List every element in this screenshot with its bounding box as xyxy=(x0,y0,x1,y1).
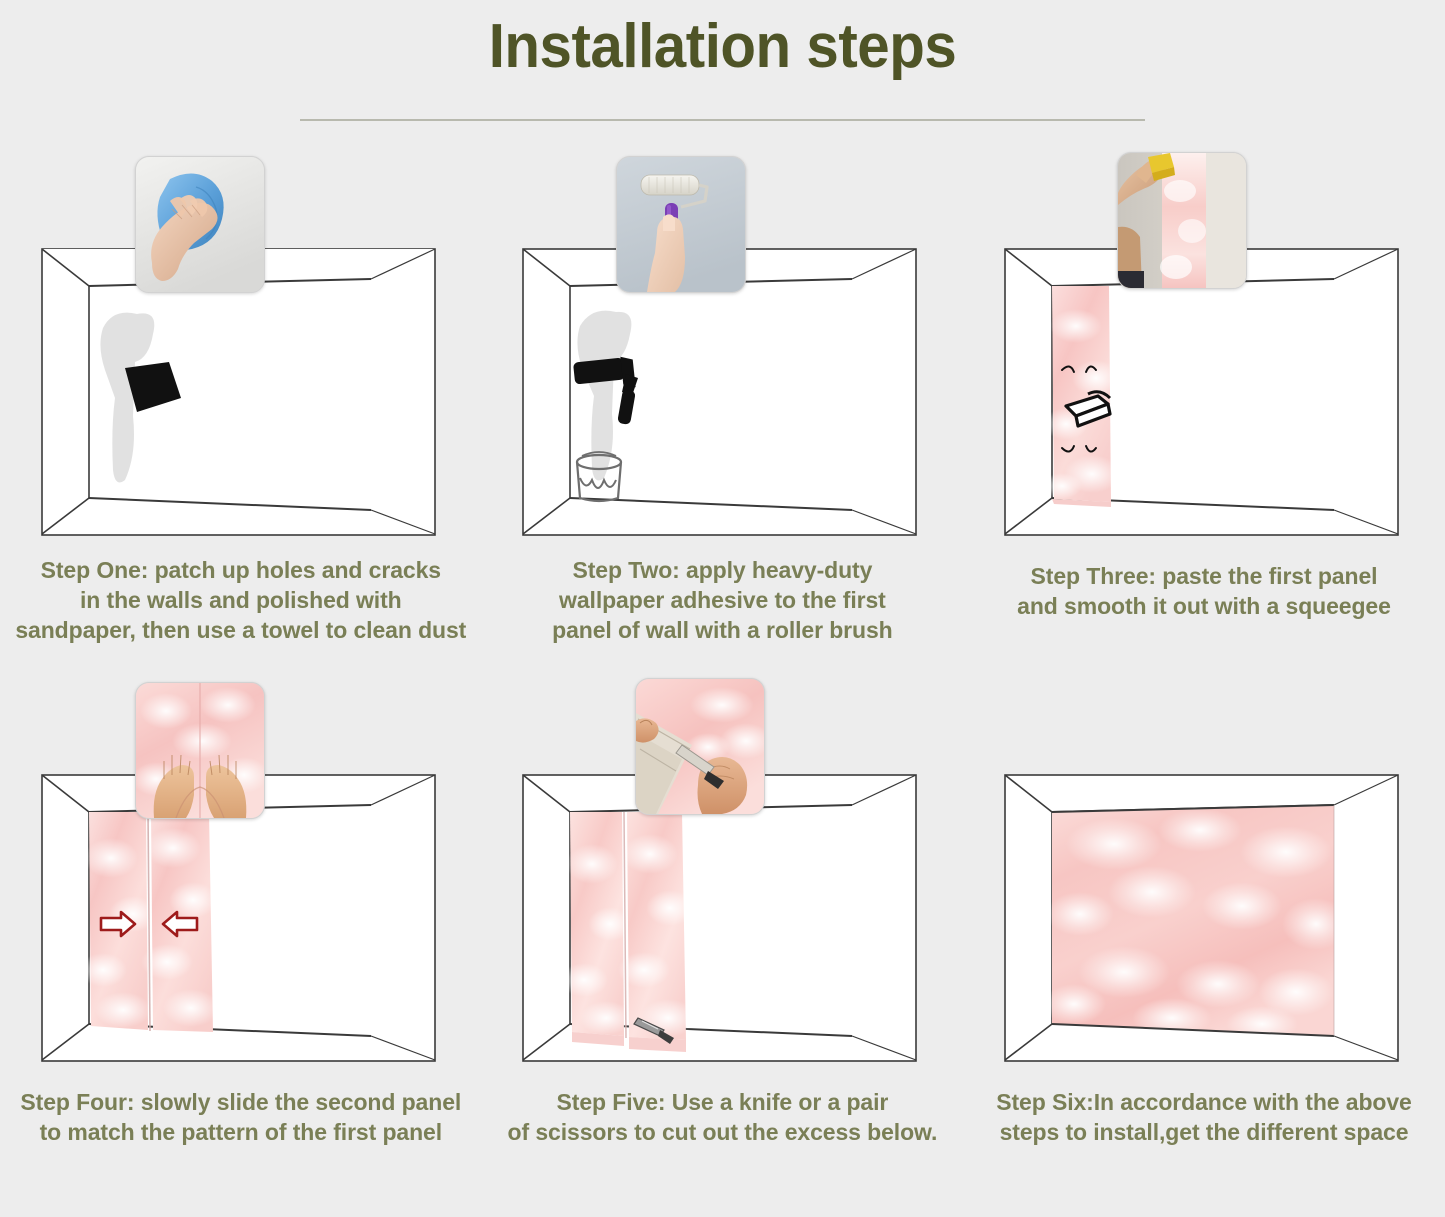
caption-line: Step Five: Use a knife or a pair xyxy=(487,1088,957,1118)
caption-line: Step One: patch up holes and cracks xyxy=(6,556,476,586)
step-card-five: Step Five: Use a knife or a pair of scis… xyxy=(482,674,964,1148)
step-three-caption: Step Three: paste the first panel and sm… xyxy=(969,562,1439,622)
step-two-inset-photo xyxy=(616,156,746,293)
caption-line: steps to install,get the different space xyxy=(969,1118,1439,1148)
caption-line: Step Six:In accordance with the above xyxy=(969,1088,1439,1118)
caption-line: to match the pattern of the first panel xyxy=(6,1118,476,1148)
steps-row-bottom: Step Four: slowly slide the second panel… xyxy=(0,674,1445,1148)
step-four-illustration xyxy=(31,674,451,1064)
caption-line: and smooth it out with a squeegee xyxy=(969,592,1439,622)
step-five-illustration xyxy=(512,674,932,1064)
caption-line: Step Four: slowly slide the second panel xyxy=(6,1088,476,1118)
step-one-inset-photo xyxy=(135,156,265,293)
caption-line: Step Two: apply heavy-duty xyxy=(487,556,957,586)
page-title: Installation steps xyxy=(43,8,1401,86)
room-perspective-three xyxy=(1004,248,1399,536)
step-three-illustration xyxy=(994,148,1414,538)
finished-pink-cloud-wall xyxy=(1042,805,1350,1042)
step-five-caption: Step Five: Use a knife or a pair of scis… xyxy=(487,1088,957,1148)
page-header: Installation steps xyxy=(0,0,1445,121)
step-card-three: Step Three: paste the first panel and sm… xyxy=(963,148,1445,646)
step-two-illustration xyxy=(512,148,932,538)
step-card-four: Step Four: slowly slide the second panel… xyxy=(0,674,482,1148)
step-four-caption: Step Four: slowly slide the second panel… xyxy=(6,1088,476,1148)
step-five-inset-photo xyxy=(635,678,765,815)
step-four-inset-photo xyxy=(135,682,265,819)
room-perspective-five xyxy=(522,774,917,1062)
knife-cutting-photo xyxy=(636,679,764,814)
step-two-caption: Step Two: apply heavy-duty wallpaper adh… xyxy=(487,556,957,646)
step-six-caption: Step Six:In accordance with the above st… xyxy=(969,1088,1439,1148)
step-card-one: Step One: patch up holes and cracks in t… xyxy=(0,148,482,646)
caption-line: sandpaper, then use a towel to clean dus… xyxy=(6,616,476,646)
title-divider xyxy=(300,119,1145,121)
step-one-caption: Step One: patch up holes and cracks in t… xyxy=(6,556,476,646)
steps-grid: Step One: patch up holes and cracks in t… xyxy=(0,148,1445,1147)
caption-line: panel of wall with a roller brush xyxy=(487,616,957,646)
squeegee-smoothing-photo xyxy=(1118,153,1246,288)
hand-with-blue-towel-photo xyxy=(136,157,264,292)
step-six-illustration xyxy=(994,674,1414,1064)
caption-line: Step Three: paste the first panel xyxy=(969,562,1439,592)
paint-roller-photo xyxy=(617,157,745,292)
two-hands-aligning-photo xyxy=(136,683,264,818)
caption-line: of scissors to cut out the excess below. xyxy=(487,1118,957,1148)
room-perspective-six xyxy=(1004,774,1399,1062)
step-one-illustration xyxy=(31,148,451,538)
caption-line: in the walls and polished with xyxy=(6,586,476,616)
steps-row-top: Step One: patch up holes and cracks in t… xyxy=(0,148,1445,646)
step-three-inset-photo xyxy=(1117,152,1247,289)
step-card-six: Step Six:In accordance with the above st… xyxy=(963,674,1445,1148)
caption-line: wallpaper adhesive to the first xyxy=(487,586,957,616)
step-card-two: Step Two: apply heavy-duty wallpaper adh… xyxy=(482,148,964,646)
